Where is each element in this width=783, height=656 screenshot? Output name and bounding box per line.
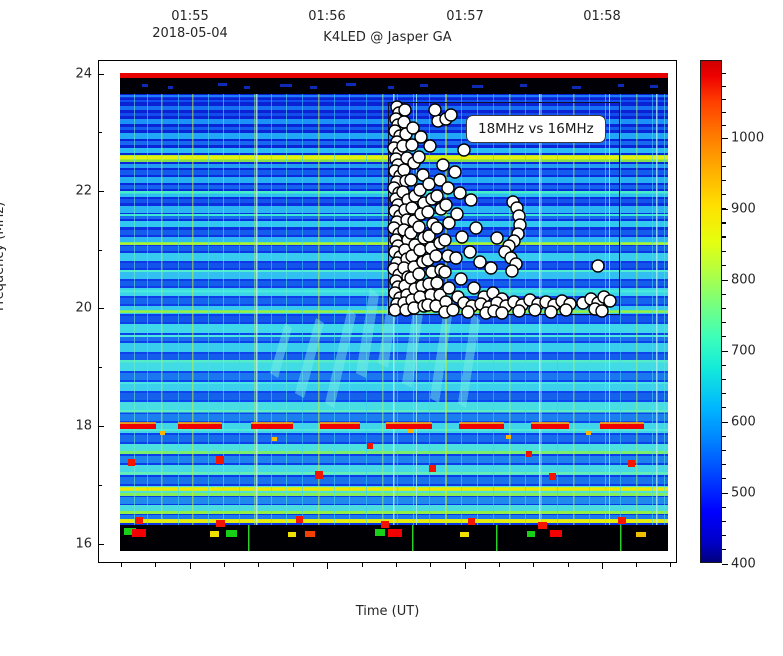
ytick-label-16: 16 (62, 537, 92, 552)
y-axis-label: Frequency (MHz) (0, 202, 7, 311)
cbtick-label-900: 900 (731, 202, 756, 217)
cbtick-label-400: 400 (731, 557, 756, 572)
cbtick-label-600: 600 (731, 415, 756, 430)
colorbar-gradient (700, 60, 722, 563)
ytick-label-22: 22 (62, 184, 92, 199)
colorbar: 1000 900 800 700 600 500 (700, 60, 722, 563)
spectrogram-figure: K4LED @ Jasper GA Frequency (MHz) (0, 0, 783, 656)
annotation-label: 18MHz vs 16MHz (466, 115, 606, 143)
cbtick-label-700: 700 (731, 344, 756, 359)
ytick-label-20: 20 (62, 301, 92, 316)
x-axis-label: Time (UT) (98, 604, 677, 619)
xtick-label-0157: 01:57 (446, 9, 483, 24)
cbtick-label-500: 500 (731, 486, 756, 501)
ytick-label-18: 18 (62, 419, 92, 434)
xtick-label-0158: 01:58 (583, 9, 620, 24)
ytick-label-24: 24 (62, 67, 92, 82)
xtick-label-0156: 01:56 (308, 9, 345, 24)
cbtick-label-1000: 1000 (731, 131, 764, 146)
cbtick-label-800: 800 (731, 273, 756, 288)
x-axis-date: 2018-05-04 (152, 26, 228, 41)
xtick-label-0155: 01:55 (171, 9, 208, 24)
